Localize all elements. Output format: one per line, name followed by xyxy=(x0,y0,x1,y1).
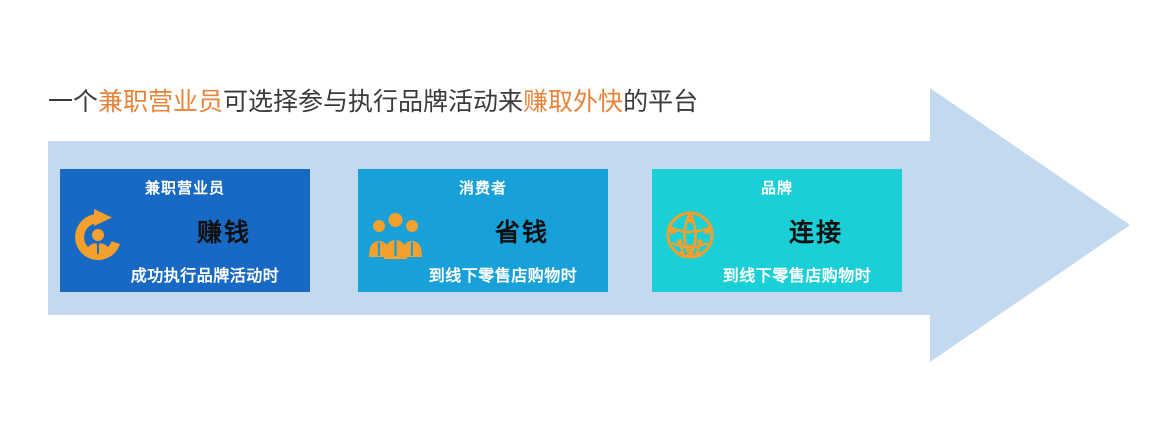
card-brand[interactable]: 品牌 连接 到线下零售店购物时 xyxy=(652,169,902,292)
card-main-text: 连接 xyxy=(730,213,902,249)
card-footer: 到线下零售店购物时 xyxy=(398,262,608,286)
card-main-text: 赚钱 xyxy=(138,213,310,249)
title-segment-2: 可选择参与执行品牌活动来 xyxy=(223,89,523,116)
card-part-time-clerk[interactable]: 兼职营业员 赚钱 成功执行品牌活动时 xyxy=(60,169,310,292)
title-segment-0: 一个 xyxy=(48,89,98,116)
network-globe-icon xyxy=(660,207,720,267)
card-footer: 到线下零售店购物时 xyxy=(692,262,902,286)
title-segment-4: 的平台 xyxy=(623,89,698,116)
card-header: 消费者 xyxy=(358,177,608,198)
card-main-text: 省钱 xyxy=(436,213,608,249)
diagram-canvas: 一个兼职营业员可选择参与执行品牌活动来赚取外快的平台 兼职营业员 赚钱 成功执行… xyxy=(0,0,1150,430)
people-group-icon xyxy=(366,207,426,267)
person-refresh-icon xyxy=(68,207,128,267)
card-header: 品牌 xyxy=(652,177,902,198)
title-segment-3-highlight: 赚取外快 xyxy=(523,89,623,116)
card-consumer[interactable]: 消费者 省钱 到线下零售店购物时 xyxy=(358,169,608,292)
page-title: 一个兼职营业员可选择参与执行品牌活动来赚取外快的平台 xyxy=(48,86,698,120)
card-footer: 成功执行品牌活动时 xyxy=(100,262,310,286)
title-segment-1-highlight: 兼职营业员 xyxy=(98,89,223,116)
card-header: 兼职营业员 xyxy=(60,177,310,198)
